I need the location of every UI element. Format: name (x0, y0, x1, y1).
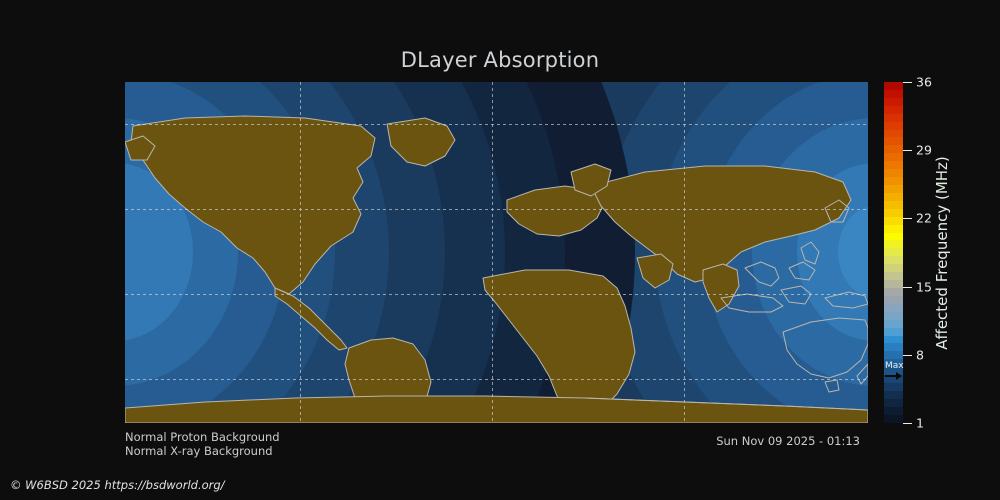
colorbar-band (884, 383, 903, 391)
colorbar-band (884, 415, 903, 423)
parallel-line (125, 209, 868, 210)
colorbar-max-label: Max (884, 362, 903, 371)
copyright-notice: © W6BSD 2025 https://bsdworld.org/ (10, 478, 225, 492)
colorbar-tick (903, 150, 912, 151)
colorbar-band (884, 248, 903, 256)
colorbar-band (884, 391, 903, 399)
colorbar-band (884, 193, 903, 201)
colorbar-band (884, 272, 903, 280)
colorbar-band (884, 225, 903, 233)
colorbar-tick-label: 8 (916, 347, 924, 362)
colorbar-band (884, 137, 903, 145)
colorbar-band (884, 280, 903, 288)
colorbar-band (884, 304, 903, 312)
colorbar-band (884, 240, 903, 248)
xray-background-status: Normal X-ray Background (125, 444, 273, 458)
colorbar-band (884, 264, 903, 272)
colorbar-max-arrow-icon (884, 371, 903, 380)
landmass-layer (125, 82, 868, 423)
colorbar-tick (903, 287, 912, 288)
colorbar-band (884, 98, 903, 106)
colorbar-band (884, 217, 903, 225)
colorbar-band (884, 336, 903, 344)
colorbar-band (884, 320, 903, 328)
meridian-line (492, 82, 493, 423)
colorbar-band (884, 201, 903, 209)
colorbar-tick (903, 82, 912, 83)
colorbar-band (884, 130, 903, 138)
colorbar-max-marker: Max (884, 362, 903, 380)
colorbar-band (884, 145, 903, 153)
colorbar-band (884, 256, 903, 264)
colorbar-band (884, 177, 903, 185)
dlayer-absorption-page: DLayer Absorption (0, 0, 1000, 500)
colorbar-band (884, 233, 903, 241)
colorbar[interactable]: Max (884, 82, 903, 423)
proton-background-status: Normal Proton Background (125, 430, 280, 444)
colorbar-band (884, 161, 903, 169)
colorbar-band (884, 169, 903, 177)
colorbar-band (884, 312, 903, 320)
parallel-line (125, 124, 868, 125)
colorbar-tick-label: 1 (916, 416, 924, 431)
meridian-line (684, 82, 685, 423)
colorbar-band (884, 106, 903, 114)
colorbar-band (884, 296, 903, 304)
colorbar-tick (903, 423, 912, 424)
colorbar-tick (903, 218, 912, 219)
colorbar-band (884, 407, 903, 415)
colorbar-band (884, 122, 903, 130)
colorbar-band (884, 351, 903, 359)
colorbar-band (884, 82, 903, 90)
colorbar-band (884, 328, 903, 336)
colorbar-band (884, 185, 903, 193)
colorbar-band (884, 90, 903, 98)
colorbar-band (884, 114, 903, 122)
colorbar-axis-label-text: Affected Frequency (MHz) (933, 156, 951, 350)
timestamp: Sun Nov 09 2025 - 01:13 (716, 434, 860, 448)
colorbar-band (884, 399, 903, 407)
colorbar-band (884, 153, 903, 161)
meridian-line (300, 82, 301, 423)
colorbar-axis-label: Affected Frequency (MHz) (930, 82, 954, 423)
parallel-line (125, 294, 868, 295)
page-title: DLayer Absorption (0, 48, 1000, 72)
colorbar-band (884, 288, 903, 296)
parallel-line (125, 379, 868, 380)
coastline-svg (125, 82, 868, 423)
world-absorption-map[interactable] (125, 82, 868, 423)
colorbar-band (884, 209, 903, 217)
colorbar-tick (903, 355, 912, 356)
colorbar-band (884, 343, 903, 351)
